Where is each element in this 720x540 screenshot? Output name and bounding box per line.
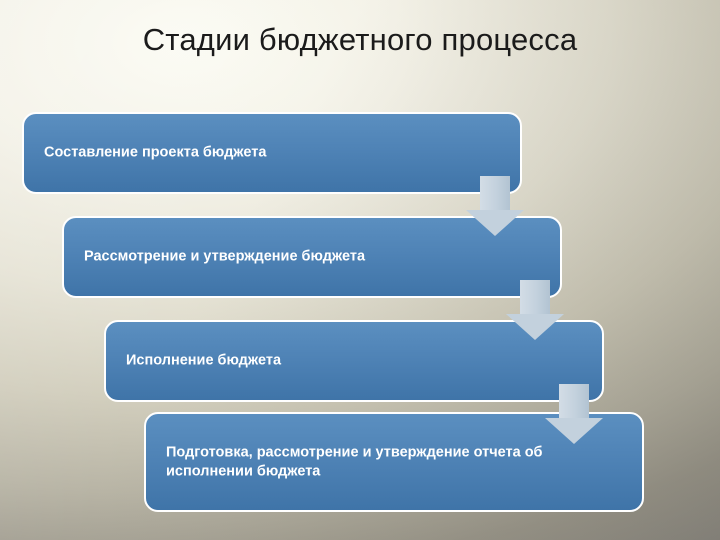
arrow-3-head	[545, 418, 603, 444]
page-title: Стадии бюджетного процесса	[0, 22, 720, 58]
step-1-label: Составление проекта бюджета	[44, 144, 488, 163]
arrow-2-head	[506, 314, 564, 340]
arrow-2-stem	[520, 280, 550, 316]
process-step-1[interactable]: Составление проекта бюджета	[22, 112, 522, 194]
arrow-1-head	[466, 210, 524, 236]
step-4-label: Подготовка, рассмотрение и утверждение о…	[166, 443, 610, 480]
connector-arrow-1	[466, 176, 524, 238]
connector-arrow-3	[545, 384, 603, 446]
arrow-1-stem	[480, 176, 510, 212]
slide-canvas: Стадии бюджетного процесса Составление п…	[0, 0, 720, 540]
connector-arrow-2	[506, 280, 564, 342]
step-2-label: Рассмотрение и утверждение бюджета	[84, 248, 528, 267]
step-3-label: Исполнение бюджета	[126, 352, 570, 371]
arrow-3-stem	[559, 384, 589, 420]
